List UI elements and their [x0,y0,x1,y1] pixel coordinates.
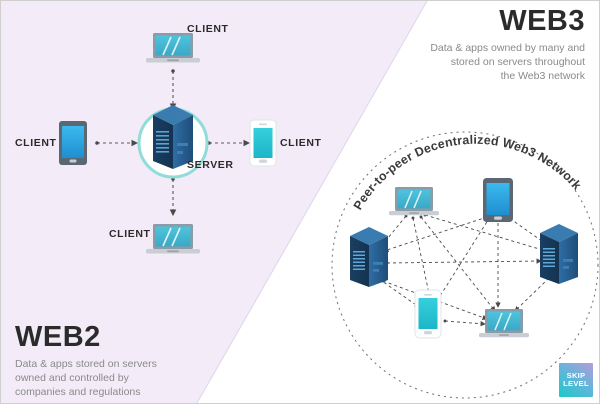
web3-node-server-left [350,227,388,287]
skip-level-logo[interactable]: SKIP LEVEL [559,363,593,397]
label-client-bottom: CLIENT [109,228,151,240]
web2-client-left-tablet [59,121,87,165]
label-server: SERVER [187,159,234,171]
web3-description: Data & apps owned by many and stored on … [345,41,585,84]
web2-client-top-laptop [146,33,200,63]
web3-node-laptop-top [389,187,439,215]
web3-node-laptop-bottom [479,309,529,337]
web2-client-bottom-laptop [146,224,200,254]
label-client-left: CLIENT [15,137,57,149]
web3-node-tablet-top [483,178,513,222]
web3-node-server-right [540,224,578,284]
logo-line-2: LEVEL [563,380,589,388]
web3-title: WEB3 [499,5,585,38]
web3-node-phone-bottom [415,290,441,338]
label-client-top: CLIENT [187,23,229,35]
web2-client-right-phone [250,120,276,166]
label-client-right: CLIENT [280,137,322,149]
web2-description: Data & apps stored on servers owned and … [15,357,235,400]
diagram-canvas: Peer-to-peer Decentralized Web3 Network [0,0,600,404]
web2-title: WEB2 [15,321,101,354]
